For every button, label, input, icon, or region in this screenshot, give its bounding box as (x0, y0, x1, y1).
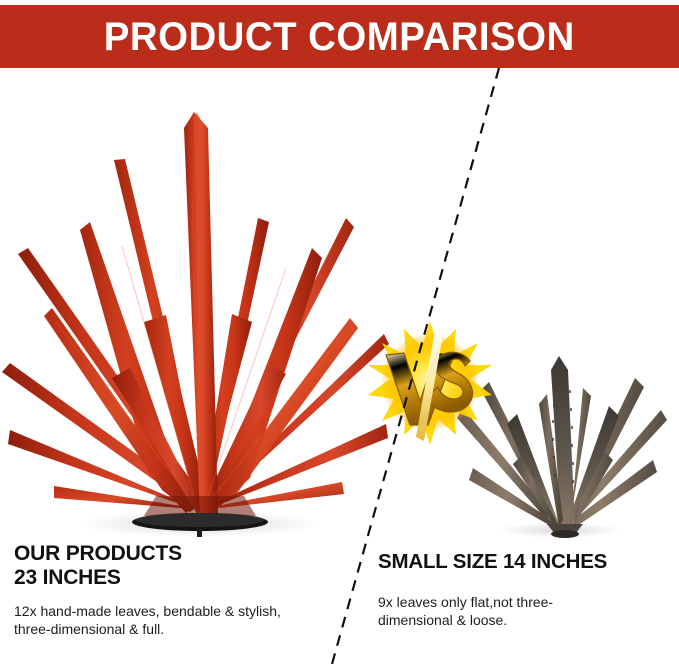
right-caption-block: SMALL SIZE 14 INCHES 9x leaves only flat… (378, 550, 670, 630)
vs-burst-icon (366, 319, 494, 447)
left-caption-block: OUR PRODUCTS 23 INCHES 12x hand-made lea… (14, 542, 344, 639)
left-product-image (0, 72, 394, 537)
comparison-stage (0, 68, 679, 538)
vs-badge (366, 319, 494, 447)
header-banner: PRODUCT COMPARISON (0, 5, 679, 68)
red-agave-plant-icon (0, 72, 394, 537)
product-comparison-infographic: PRODUCT COMPARISON (0, 0, 679, 664)
page-title: PRODUCT COMPARISON (104, 17, 575, 57)
right-product-description: 9x leaves only flat,not three- dimension… (378, 594, 670, 630)
right-product-heading: SMALL SIZE 14 INCHES (378, 550, 670, 573)
left-product-description: 12x hand-made leaves, bendable & stylish… (14, 603, 344, 639)
left-product-heading: OUR PRODUCTS 23 INCHES (14, 542, 344, 589)
